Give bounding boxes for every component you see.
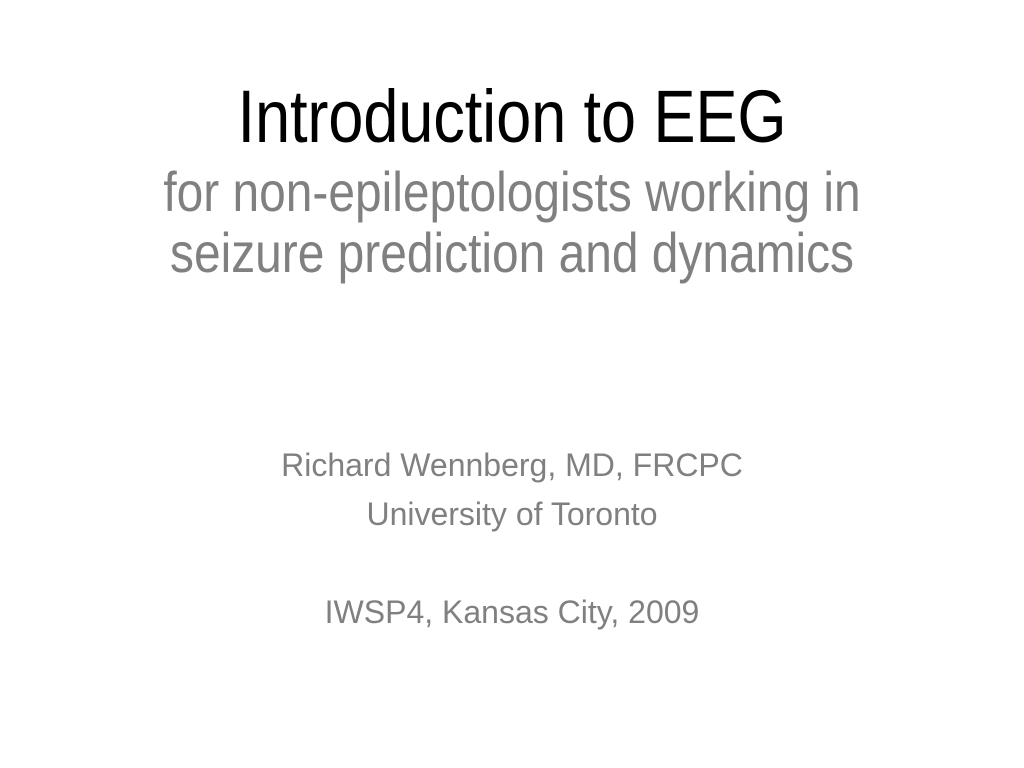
title-slide: Introduction to EEG for non-epileptologi…	[0, 0, 1024, 768]
page-title: Introduction to EEG	[126, 78, 899, 156]
presenter-name: Richard Wennberg, MD, FRCPC	[90, 441, 934, 490]
presenter-affiliation: University of Toronto	[90, 490, 934, 539]
author-block: Richard Wennberg, MD, FRCPC University o…	[90, 441, 934, 637]
title-block: Introduction to EEG for non-epileptologi…	[60, 78, 964, 283]
event-line: IWSP4, Kansas City, 2009	[90, 588, 934, 637]
body-blank-line	[90, 539, 934, 588]
slide-subtitle: for non-epileptologists working in seizu…	[126, 162, 899, 283]
subtitle-line-1: for non-epileptologists working in	[126, 162, 899, 222]
subtitle-line-2: seizure prediction and dynamics	[126, 223, 899, 283]
